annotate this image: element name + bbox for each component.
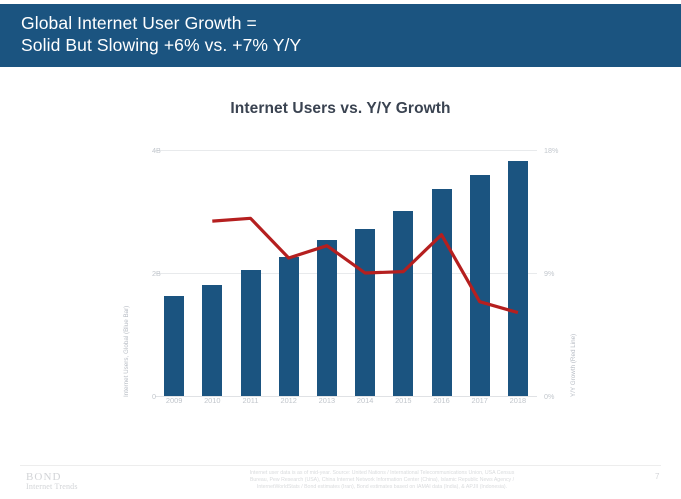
bond-logo: BOND Internet Trends: [26, 471, 78, 491]
y-tick-right-9pct: 9%: [544, 269, 554, 278]
bar-2009: [164, 296, 184, 396]
x-label-2012: 2012: [269, 396, 309, 405]
bar-2016: [432, 189, 452, 396]
bar-2013: [317, 240, 337, 396]
y-tick-left-4b: 4B: [152, 146, 161, 155]
gridline-top: [155, 150, 537, 151]
bar-2018: [508, 161, 528, 396]
page-number: 7: [655, 472, 659, 481]
x-label-2013: 2013: [307, 396, 347, 405]
x-label-2018: 2018: [498, 396, 538, 405]
y-tick-right-0pct: 0%: [544, 392, 554, 401]
source-footnote: Internet user data is as of mid-year. So…: [172, 470, 592, 492]
footer-divider: [20, 465, 661, 466]
y-tick-left-2b: 2B: [152, 269, 161, 278]
x-label-2015: 2015: [383, 396, 423, 405]
y-tick-right-18pct: 18%: [544, 146, 558, 155]
x-label-2016: 2016: [422, 396, 462, 405]
slide-title: Global Internet User Growth = Solid But …: [21, 13, 301, 56]
y-axis-left-title: Internet Users, Global (Blue Bar): [123, 306, 130, 397]
y-axis-right-title: Y/Y Growth (Red Line): [570, 334, 577, 397]
slide-header-banner: Global Internet User Growth = Solid But …: [0, 4, 681, 67]
x-label-2009: 2009: [154, 396, 194, 405]
x-label-2011: 2011: [231, 396, 271, 405]
x-label-2014: 2014: [345, 396, 385, 405]
x-label-2017: 2017: [460, 396, 500, 405]
bar-2011: [241, 270, 261, 396]
growth-line-svg: [0, 67, 681, 465]
bar-2015: [393, 211, 413, 396]
bar-2010: [202, 285, 222, 396]
x-label-2010: 2010: [192, 396, 232, 405]
bar-2017: [470, 175, 490, 396]
chart-plot-area: Internet Users, Global (Blue Bar) Y/Y Gr…: [0, 67, 681, 465]
bond-logo-subtitle: Internet Trends: [26, 482, 78, 491]
bar-2012: [279, 257, 299, 396]
slide-footer: BOND Internet Trends Internet user data …: [0, 465, 681, 499]
bar-2014: [355, 229, 375, 396]
slide-body: Internet Users vs. Y/Y Growth Internet U…: [0, 67, 681, 465]
